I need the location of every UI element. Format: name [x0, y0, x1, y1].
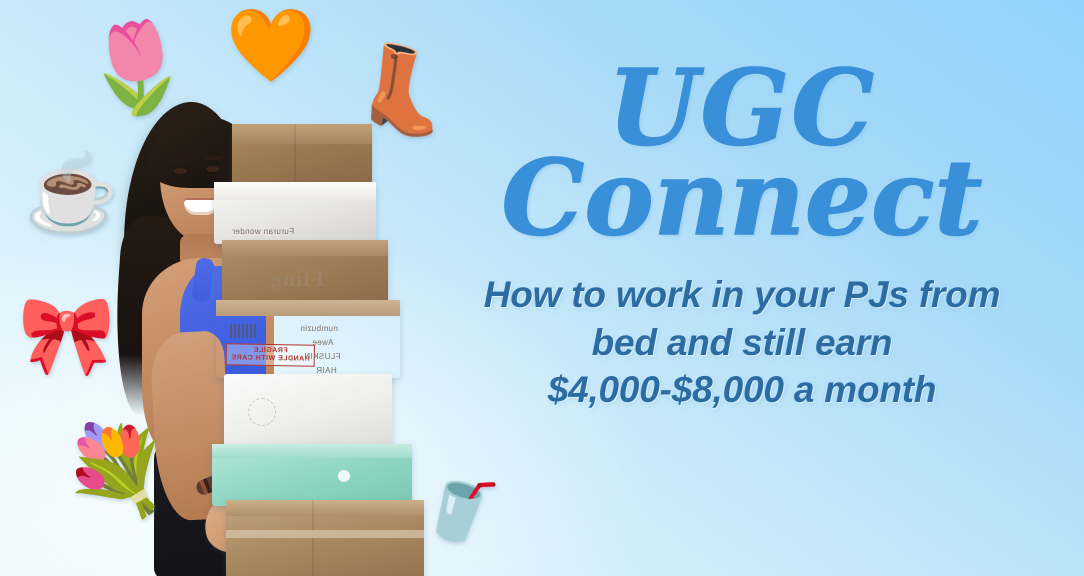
subtitle-line-3: $4,000-$8,000 a month: [424, 366, 1060, 413]
subtitle-line-1: How to work in your PJs from: [424, 271, 1060, 318]
circle-mark: [248, 398, 276, 426]
box-tape: [226, 530, 424, 538]
subtitle-line-2: bed and still earn: [424, 319, 1060, 366]
smile: [184, 200, 218, 215]
box-seam: [312, 500, 314, 576]
roses-emoji: 💐: [62, 428, 169, 514]
box-top-face: [212, 444, 412, 458]
box-kraft-bottom: [226, 500, 424, 576]
box-kraft-fragile: FRAGILE HANDLE WITH CARE numbuzin Awee F…: [216, 300, 400, 378]
title-line-2: Connect: [424, 150, 1060, 246]
box-kraft-brand: Fling: [222, 240, 388, 304]
barcode: [230, 324, 256, 338]
box-label: Fururan wonder: [232, 227, 294, 236]
heart-emoji: 🧡: [226, 10, 316, 82]
box-kraft-top: [232, 124, 372, 186]
mint-box-logo: [338, 470, 350, 482]
box-seam: [294, 124, 296, 186]
text-column: UGC Connect How to work in your PJs from…: [424, 60, 1060, 413]
box-mint: [212, 444, 412, 506]
fragile-stamp: FRAGILE HANDLE WITH CARE: [226, 343, 315, 367]
box-line-3: FLUSKIN: [304, 352, 341, 361]
box-brand-text: Fling: [270, 266, 324, 292]
promo-banner: Fururan wonder Fling FRAGILE HANDLE WITH…: [0, 0, 1084, 576]
box-top-face: [214, 182, 376, 200]
box-top-face: [216, 300, 400, 316]
fragile-stamp-title: FRAGILE: [253, 347, 287, 355]
eye-left: [174, 168, 187, 174]
eye-right: [206, 166, 219, 172]
box-top-face: [222, 240, 388, 256]
box-white-lower: [224, 374, 392, 448]
coffee-emoji: ☕: [24, 156, 119, 232]
subtitle: How to work in your PJs from bed and sti…: [424, 271, 1060, 413]
box-white-upper: Fururan wonder: [214, 182, 376, 244]
bow-emoji: 🎀: [18, 296, 115, 374]
box-top-face: [226, 500, 424, 516]
fragile-stamp-sub: HANDLE WITH CARE: [231, 354, 310, 362]
tulip-emoji: 🌷: [79, 20, 194, 115]
box-line-2: Awee: [312, 338, 333, 347]
box-line-1: numbuzin: [300, 324, 338, 333]
page-title: UGC Connect: [424, 60, 1060, 245]
